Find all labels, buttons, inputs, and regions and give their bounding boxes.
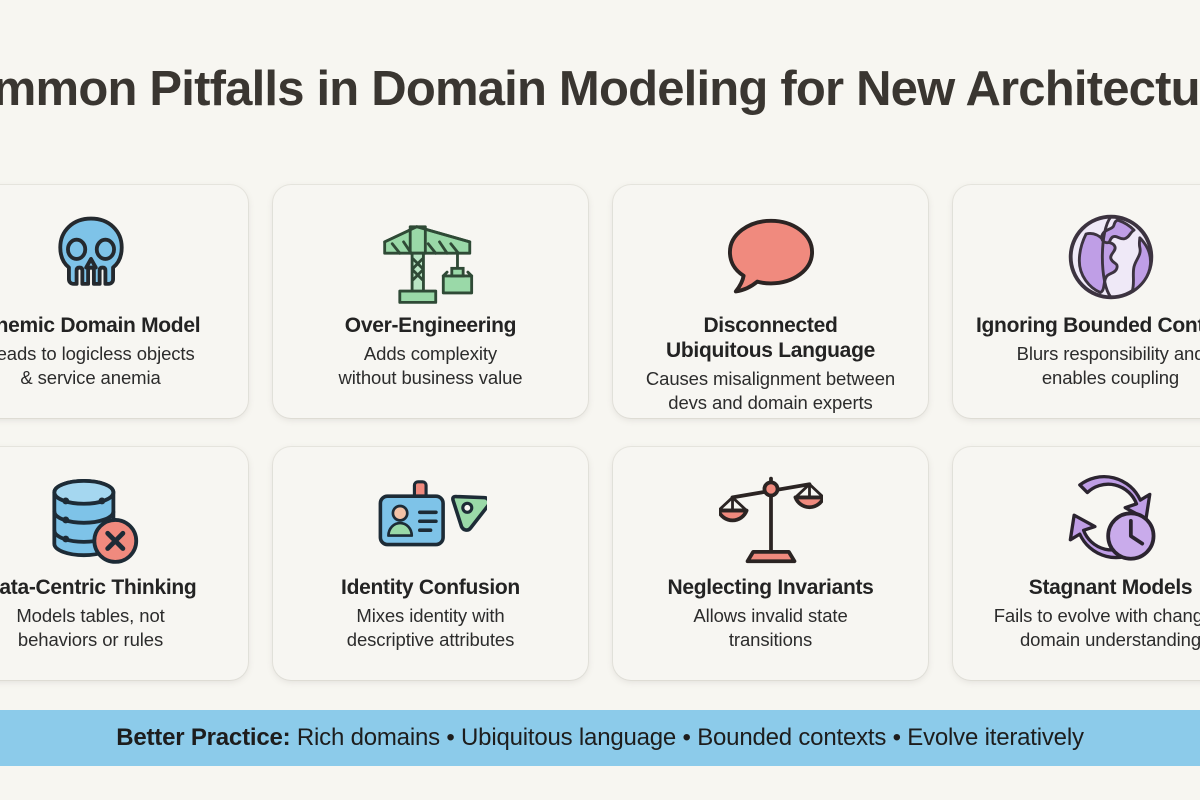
card-title: Over-Engineering (345, 313, 516, 338)
pitfall-card[interactable]: Stagnant Models Fails to evolve with cha… (953, 447, 1200, 680)
title-container: Common Pitfalls in Domain Modeling for N… (0, 52, 1200, 130)
better-practice-banner: Better Practice: Rich domains • Ubiquito… (0, 710, 1200, 766)
refresh-clock-icon (1059, 467, 1163, 571)
card-title: Disconnected Ubiquitous Language (666, 313, 875, 363)
card-title: Data-Centric Thinking (0, 575, 196, 600)
pitfall-card-grid: Anemic Domain Model Leads to logicless o… (0, 185, 1200, 680)
card-description: Leads to logicless objects & service ane… (0, 342, 195, 390)
card-title: Anemic Domain Model (0, 313, 200, 338)
infographic-root: Common Pitfalls in Domain Modeling for N… (0, 0, 1200, 800)
card-description: Causes misalignment between devs and dom… (646, 367, 895, 415)
card-description: Adds complexity without business value (339, 342, 523, 390)
pitfall-card[interactable]: Data-Centric Thinking Models tables, not… (0, 447, 248, 680)
globe-icon (1063, 205, 1159, 309)
better-practice-text: Better Practice: Rich domains • Ubiquito… (116, 724, 1084, 752)
pitfall-card[interactable]: Identity Confusion Mixes identity with d… (273, 447, 588, 680)
card-title: Stagnant Models (1029, 575, 1193, 600)
pitfall-card[interactable]: Ignoring Bounded Contexts Blurs responsi… (953, 185, 1200, 418)
card-description: Models tables, not behaviors or rules (16, 604, 164, 652)
card-title: Ignoring Bounded Contexts (976, 313, 1200, 338)
page-title: Common Pitfalls in Domain Modeling for N… (0, 52, 1200, 126)
skull-icon (43, 205, 139, 309)
pitfall-card[interactable]: Neglecting Invariants Allows invalid sta… (613, 447, 928, 680)
card-description: Mixes identity with descriptive attribut… (347, 604, 514, 652)
better-practice-items: Rich domains • Ubiquitous language • Bou… (290, 724, 1083, 751)
id-badge-tag-icon (375, 467, 487, 571)
pitfall-card[interactable]: Disconnected Ubiquitous Language Causes … (613, 185, 928, 418)
pitfall-card[interactable]: Over-Engineering Adds complexity without… (273, 185, 588, 418)
card-title: Identity Confusion (341, 575, 520, 600)
card-description: Allows invalid state transitions (693, 604, 847, 652)
speech-bubble-icon (721, 205, 821, 309)
card-description: Blurs responsibility and enables couplin… (1017, 342, 1200, 390)
better-practice-label: Better Practice: (116, 724, 290, 751)
balance-scales-icon (719, 467, 823, 571)
crane-icon (379, 205, 483, 309)
database-error-icon (41, 467, 141, 571)
pitfall-card[interactable]: Anemic Domain Model Leads to logicless o… (0, 185, 248, 418)
card-title: Neglecting Invariants (667, 575, 873, 600)
card-description: Fails to evolve with changing domain und… (994, 604, 1200, 652)
